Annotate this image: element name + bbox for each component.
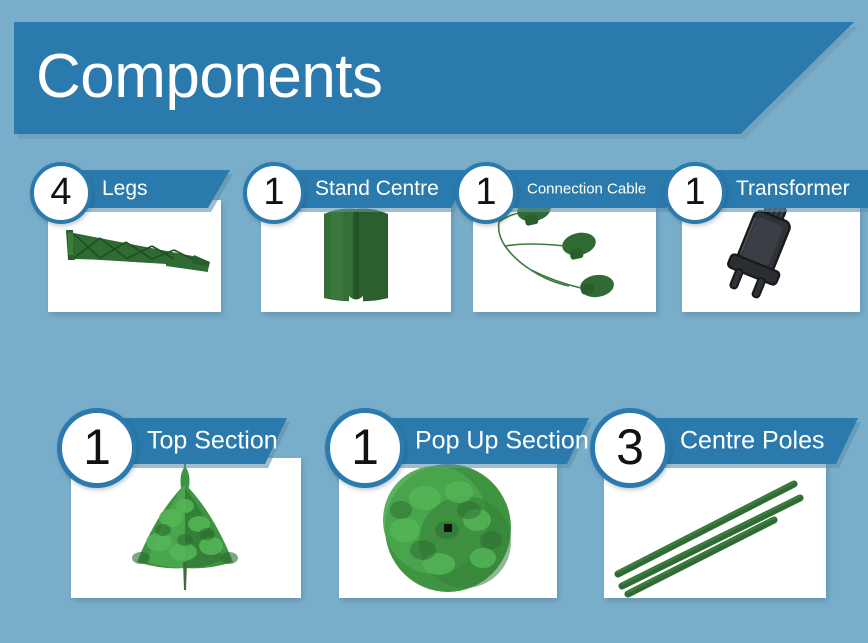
quantity-value: 3	[616, 422, 644, 472]
component-label-centre-poles: Centre Poles	[680, 427, 825, 456]
ribbon-pop-up-section: Pop Up Section	[387, 418, 589, 464]
component-label-legs: Legs	[102, 177, 148, 201]
quantity-value: 1	[83, 422, 111, 472]
ribbon-transformer: Transformer	[712, 170, 868, 208]
component-label-pop-up-section: Pop Up Section	[415, 427, 589, 456]
quantity-badge-transformer: 1	[664, 162, 726, 224]
component-label-connection-cable: Connection Cable	[527, 181, 646, 198]
ribbon-centre-poles: Centre Poles	[652, 418, 858, 464]
ribbon-legs: Legs	[78, 170, 230, 208]
quantity-badge-stand-centre: 1	[243, 162, 305, 224]
quantity-badge-top-section: 1	[57, 408, 137, 488]
page-title: Components	[36, 46, 383, 108]
quantity-value: 1	[475, 173, 496, 211]
quantity-value: 4	[50, 173, 71, 211]
component-label-top-section: Top Section	[147, 427, 278, 456]
quantity-badge-connection-cable: 1	[455, 162, 517, 224]
component-label-stand-centre: Stand Centre	[315, 177, 439, 201]
page-header-banner: Components	[14, 22, 854, 134]
components-page: Components	[0, 0, 868, 643]
component-label-transformer: Transformer	[736, 177, 850, 201]
ribbon-stand-centre: Stand Centre	[291, 170, 473, 208]
quantity-value: 1	[684, 173, 705, 211]
ribbon-top-section: Top Section	[119, 418, 287, 464]
ribbon-connection-cable: Connection Cable	[503, 170, 688, 208]
quantity-value: 1	[351, 422, 379, 472]
quantity-badge-pop-up-section: 1	[325, 408, 405, 488]
ribbon-shape	[78, 170, 230, 208]
quantity-badge-legs: 4	[30, 162, 92, 224]
quantity-badge-centre-poles: 3	[590, 408, 670, 488]
quantity-value: 1	[263, 173, 284, 211]
